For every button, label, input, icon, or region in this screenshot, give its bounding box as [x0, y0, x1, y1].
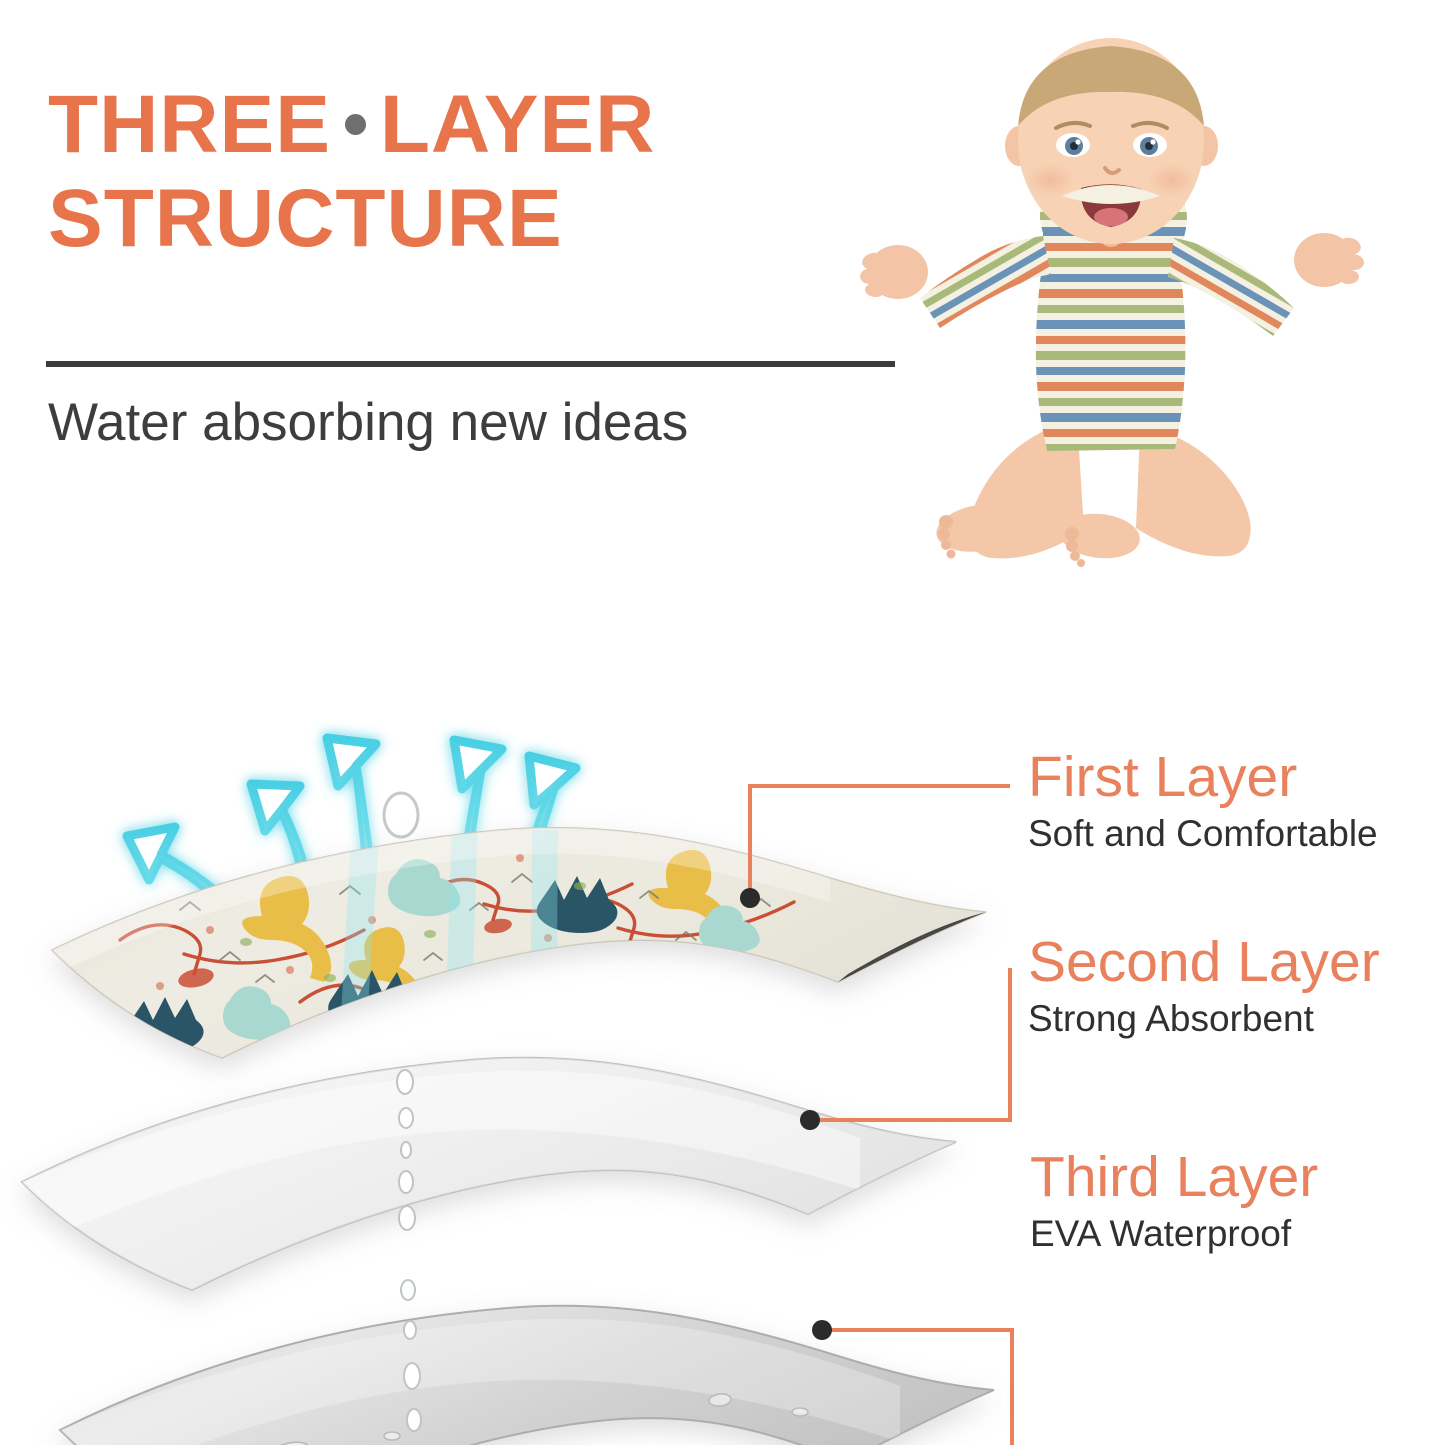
anchor-dot-first [740, 888, 760, 908]
layer-title-third: Third Layer [1030, 1148, 1318, 1207]
layer-title-second: Second Layer [1028, 933, 1380, 992]
eva-waterproof-layer [60, 1306, 994, 1445]
layer-subtitle-third: EVA Waterproof [1030, 1211, 1318, 1257]
layer-label-first: First Layer Soft and Comfortable [1028, 748, 1378, 858]
header-divider [46, 361, 895, 367]
layer-label-third: Third Layer EVA Waterproof [1030, 1148, 1318, 1258]
infographic-page: THREELAYER STRUCTURE Water absorbing new… [0, 0, 1445, 1445]
leader-line-second [810, 968, 1010, 1120]
baby-right-hand [1294, 233, 1365, 287]
layer-subtitle-first: Soft and Comfortable [1028, 811, 1378, 857]
page-title: THREELAYER STRUCTURE [48, 78, 928, 267]
title-word-layer: LAYER [380, 79, 655, 170]
hero-baby-photo [800, 28, 1410, 568]
absorbent-middle-layer [0, 1030, 1000, 1330]
baby-figure [859, 38, 1365, 567]
title-word-structure: STRUCTURE [48, 172, 928, 266]
layer-title-first: First Layer [1028, 748, 1378, 807]
title-dot-separator-icon [345, 114, 366, 135]
anchor-dot-second [800, 1110, 820, 1130]
title-word-three: THREE [48, 79, 331, 170]
baby-left-hand [859, 245, 928, 299]
anchor-dot-third [812, 1320, 832, 1340]
layer-label-second: Second Layer Strong Absorbent [1028, 933, 1380, 1043]
page-subtitle: Water absorbing new ideas [48, 392, 688, 453]
layer-subtitle-second: Strong Absorbent [1028, 996, 1380, 1042]
